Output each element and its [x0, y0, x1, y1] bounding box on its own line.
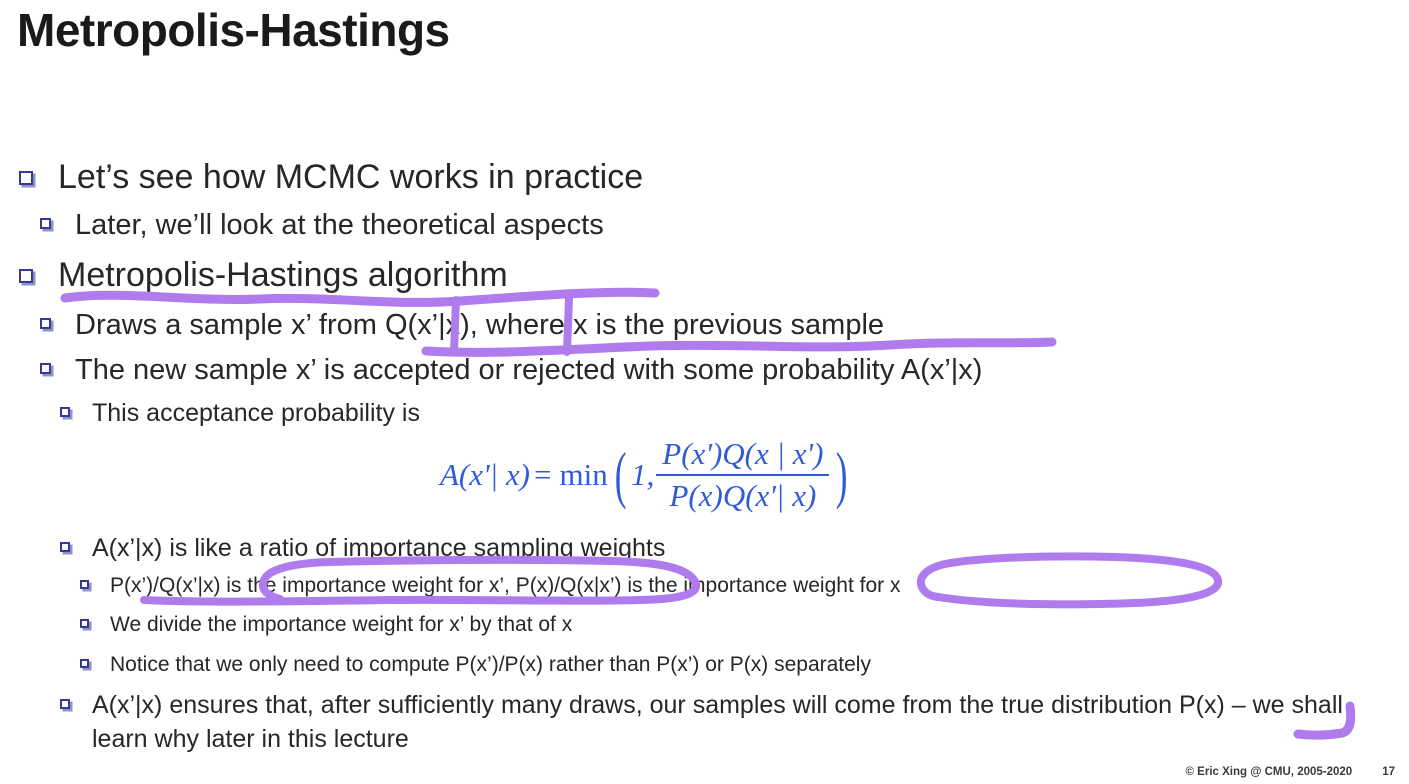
bullet-level1-mcmc-practice: Let’s see how MCMC works in practice — [19, 155, 643, 199]
copyright-text: © Eric Xing @ CMU, 2005-2020 — [1186, 766, 1353, 778]
bullet-square-icon — [40, 318, 51, 329]
bullet-text: We divide the importance weight for x’ b… — [110, 610, 572, 640]
equation-min-operator: min — [560, 457, 608, 493]
bullet-text: A(x’|x) ensures that, after sufficiently… — [92, 688, 1347, 756]
bullet-square-icon — [80, 619, 89, 628]
slide-canvas: Metropolis-Hastings Let’s see how MCMC w… — [0, 0, 1409, 784]
equation-fraction: P(x')Q(x | x') P(x)Q(x'| x) — [656, 436, 829, 514]
equation-close-paren: ) — [836, 449, 848, 501]
bullet-level3-ensures-true-distribution: A(x’|x) ensures that, after sufficiently… — [60, 688, 1360, 756]
bullet-text: Notice that we only need to compute P(x’… — [110, 650, 871, 680]
bullet-text: A(x’|x) is like a ratio of importance sa… — [92, 531, 665, 565]
equation-numerator: P(x')Q(x | x') — [656, 436, 829, 474]
bullet-square-icon — [60, 407, 70, 417]
acceptance-probability-equation: A(x'| x) = min ( 1, P(x')Q(x | x') P(x)Q… — [440, 436, 853, 514]
bullet-square-icon — [60, 542, 70, 552]
bullet-level2-theoretical-aspects: Later, we’ll look at the theoretical asp… — [40, 205, 604, 245]
bullet-text: Let’s see how MCMC works in practice — [58, 155, 643, 199]
bullet-square-icon — [19, 269, 33, 283]
equation-open-paren: ( — [615, 449, 627, 501]
bullet-level3-ratio-importance-weights: A(x’|x) is like a ratio of importance sa… — [60, 531, 665, 565]
bullet-level1-mh-algorithm: Metropolis-Hastings algorithm — [19, 253, 508, 297]
bullet-text: Draws a sample x’ from Q(x’|x), where x … — [75, 305, 884, 345]
equation-equals: = — [534, 457, 551, 493]
page-title: Metropolis-Hastings — [17, 6, 450, 54]
bullet-text: Later, we’ll look at the theoretical asp… — [75, 205, 604, 245]
equation-lhs: A(x'| x) — [440, 457, 530, 493]
bullet-level3-acceptance-probability: This acceptance probability is — [60, 396, 420, 430]
bullet-text: The new sample x’ is accepted or rejecte… — [75, 350, 982, 390]
bullet-square-icon — [40, 218, 51, 229]
bullet-square-icon — [60, 699, 70, 709]
ink-circle-importance-weight-x — [915, 552, 1235, 614]
equation-denominator: P(x)Q(x'| x) — [663, 476, 822, 514]
bullet-level4-ratio-only: Notice that we only need to compute P(x’… — [80, 650, 871, 680]
equation-first-arg: 1, — [631, 457, 654, 493]
bullet-square-icon — [80, 580, 89, 589]
bullet-level4-divide-weights: We divide the importance weight for x’ b… — [80, 610, 572, 640]
bullet-level2-accept-reject: The new sample x’ is accepted or rejecte… — [40, 350, 982, 390]
bullet-text: Metropolis-Hastings algorithm — [58, 253, 508, 297]
bullet-square-icon — [40, 363, 51, 374]
bullet-square-icon — [19, 171, 33, 185]
bullet-square-icon — [80, 659, 89, 668]
bullet-level4-importance-weights-detail: P(x’)/Q(x’|x) is the importance weight f… — [80, 571, 900, 601]
bullet-text: P(x’)/Q(x’|x) is the importance weight f… — [110, 571, 900, 601]
slide-footer: © Eric Xing @ CMU, 2005-2020 17 — [1186, 766, 1396, 778]
bullet-level2-draws-a-sample: Draws a sample x’ from Q(x’|x), where x … — [40, 305, 884, 345]
bullet-text: This acceptance probability is — [92, 396, 420, 430]
page-number: 17 — [1382, 766, 1395, 778]
